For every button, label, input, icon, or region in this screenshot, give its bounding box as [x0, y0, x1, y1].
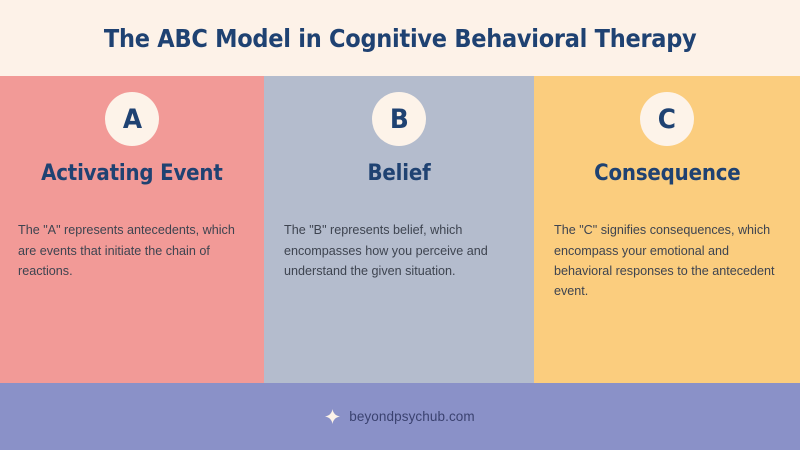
column-body-a: The "A" represents antecedents, which ar… — [0, 220, 264, 281]
column-consequence: C Consequence The "C" signifies conseque… — [534, 76, 800, 383]
column-heading-b: Belief — [367, 162, 430, 186]
footer-bar: beyondpsychub.com — [0, 383, 800, 450]
badge-circle-b: B — [372, 92, 426, 146]
column-belief: B Belief The "B" represents belief, whic… — [264, 76, 534, 383]
badge-circle-a: A — [105, 92, 159, 146]
column-heading-c: Consequence — [594, 162, 740, 186]
badge-circle-c: C — [640, 92, 694, 146]
abc-columns: A Activating Event The "A" represents an… — [0, 76, 800, 383]
badge-letter-b: B — [390, 106, 409, 133]
sparkle-icon — [325, 409, 340, 424]
badge-letter-c: C — [658, 106, 676, 133]
badge-letter-a: A — [122, 106, 141, 133]
infographic-canvas: The ABC Model in Cognitive Behavioral Th… — [0, 0, 800, 450]
column-body-c: The "C" signifies consequences, which en… — [534, 220, 800, 302]
column-body-b: The "B" represents belief, which encompa… — [264, 220, 534, 281]
column-heading-a: Activating Event — [41, 162, 223, 186]
column-activating-event: A Activating Event The "A" represents an… — [0, 76, 264, 383]
footer-website-link[interactable]: beyondpsychub.com — [349, 410, 475, 424]
header-banner: The ABC Model in Cognitive Behavioral Th… — [0, 0, 800, 76]
page-title: The ABC Model in Cognitive Behavioral Th… — [104, 24, 697, 53]
